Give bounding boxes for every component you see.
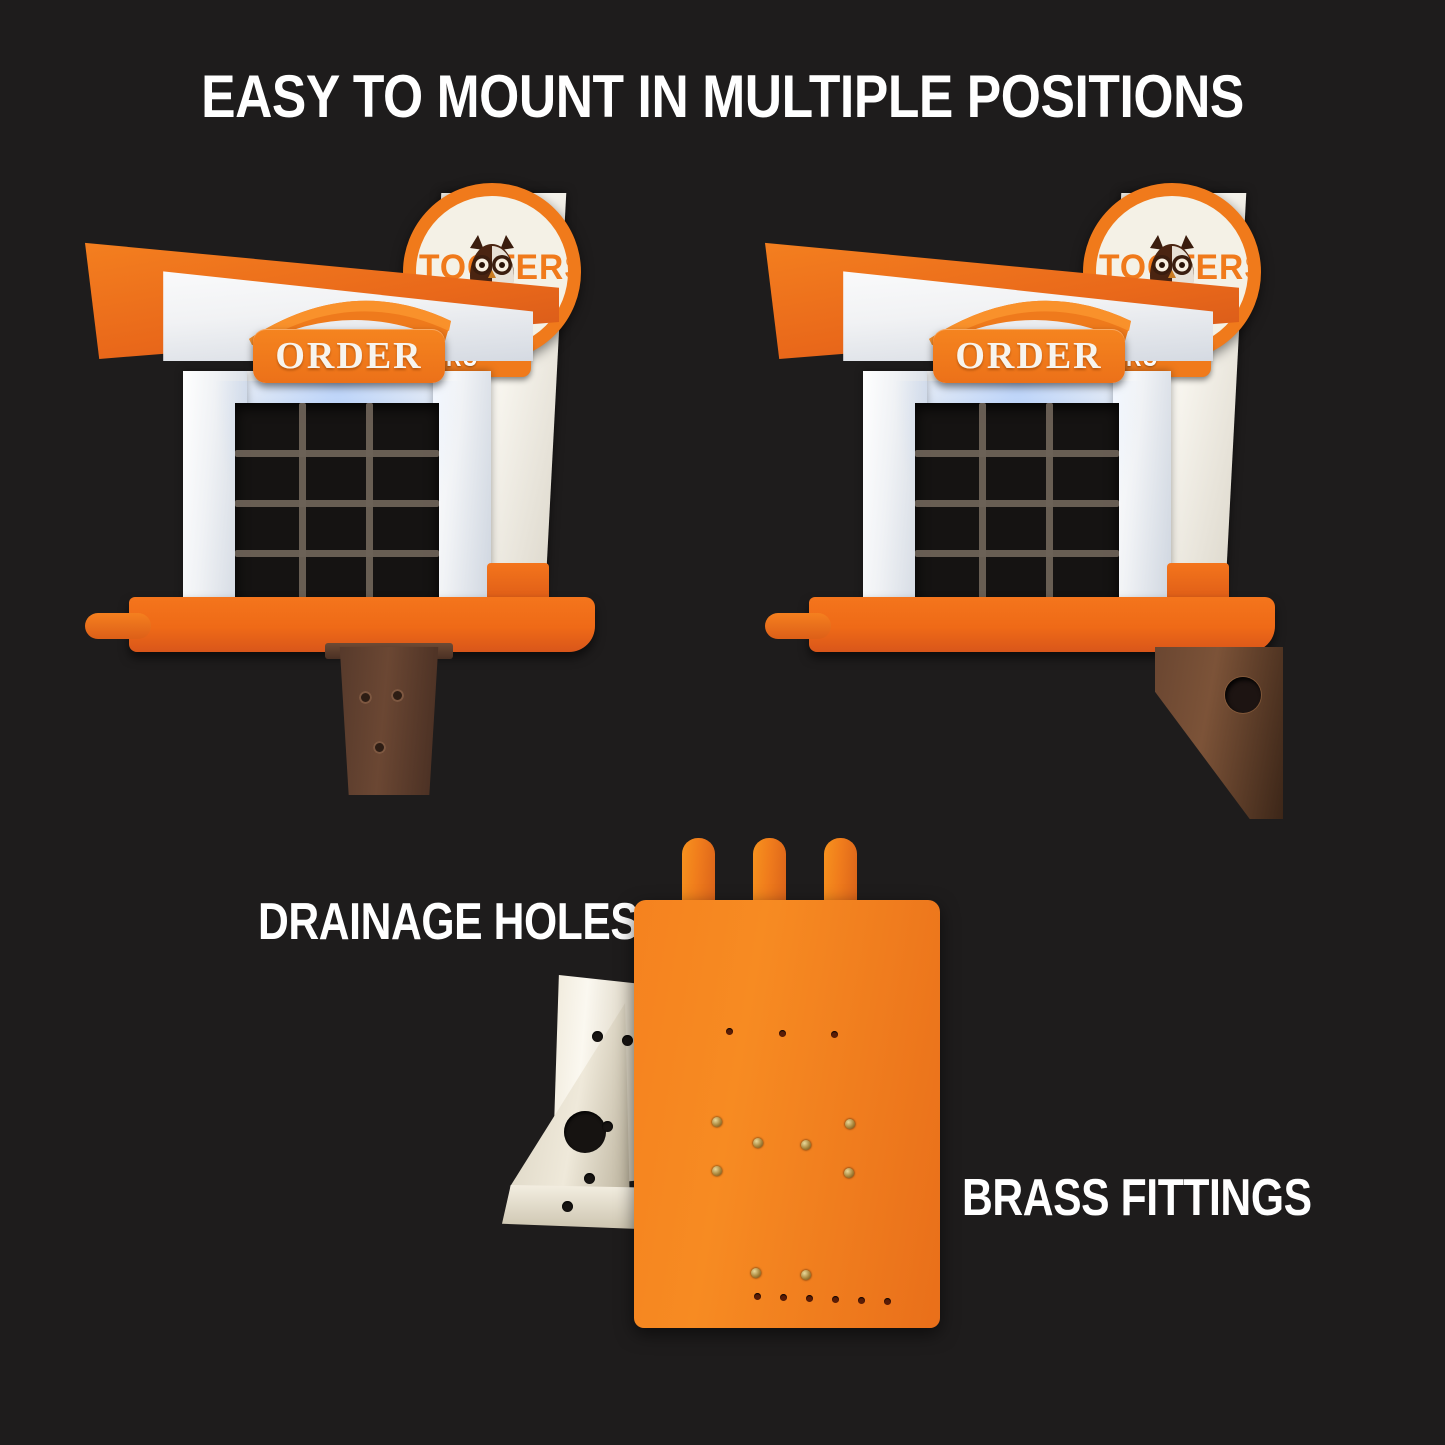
orange-back-panel-part <box>628 838 946 1330</box>
feeder-window-grid <box>915 403 1119 603</box>
drainage-hole <box>832 1296 839 1303</box>
bracket-hole <box>584 1173 595 1184</box>
bracket-hole <box>562 1201 573 1212</box>
brass-screw <box>801 1140 811 1150</box>
back-panel-body <box>634 900 940 1328</box>
brass-screw <box>751 1268 761 1278</box>
perch-dowel <box>765 613 831 639</box>
wall-mount-bracket <box>1155 647 1283 819</box>
brass-screw <box>844 1168 854 1178</box>
brass-screw <box>712 1166 722 1176</box>
feeder-unit-pole-mount: TOOTERS FLY THRU <box>85 185 685 825</box>
drainage-hole <box>806 1295 813 1302</box>
brass-screw <box>845 1119 855 1129</box>
drainage-hole <box>831 1031 838 1038</box>
drainage-hole <box>779 1030 786 1037</box>
drainage-hole <box>884 1298 891 1305</box>
brass-screw <box>801 1270 811 1280</box>
page-title: EASY TO MOUNT IN MULTIPLE POSITIONS <box>101 62 1344 131</box>
drainage-hole <box>726 1028 733 1035</box>
feeder-window-grid <box>235 403 439 603</box>
drainage-hole <box>780 1294 787 1301</box>
bracket-base-plate <box>502 1185 648 1229</box>
feed-tray <box>809 597 1275 652</box>
order-sign: ORDER <box>253 329 445 383</box>
brass-screw <box>753 1138 763 1148</box>
drainage-hole <box>858 1297 865 1304</box>
order-sign: ORDER <box>933 329 1125 383</box>
perch-dowel <box>85 613 151 639</box>
pillar-right <box>433 371 491 603</box>
pillar-right <box>1113 371 1171 603</box>
infographic-canvas: EASY TO MOUNT IN MULTIPLE POSITIONS TOOT… <box>0 0 1445 1445</box>
callout-label-brass-fittings: BRASS FITTINGS <box>962 1168 1312 1228</box>
feeder-unit-wall-mount: TOOTERS FLY THRU <box>765 185 1365 825</box>
bracket-hole <box>602 1121 613 1132</box>
drainage-hole <box>754 1293 761 1300</box>
bracket-hole <box>592 1031 603 1042</box>
bracket-mounting-hole <box>1225 677 1261 713</box>
callout-label-drainage-holes: DRAINAGE HOLES <box>258 892 638 952</box>
pole-mount-bracket <box>333 647 445 795</box>
bracket-large-hole <box>564 1111 606 1153</box>
brass-screw <box>712 1117 722 1127</box>
